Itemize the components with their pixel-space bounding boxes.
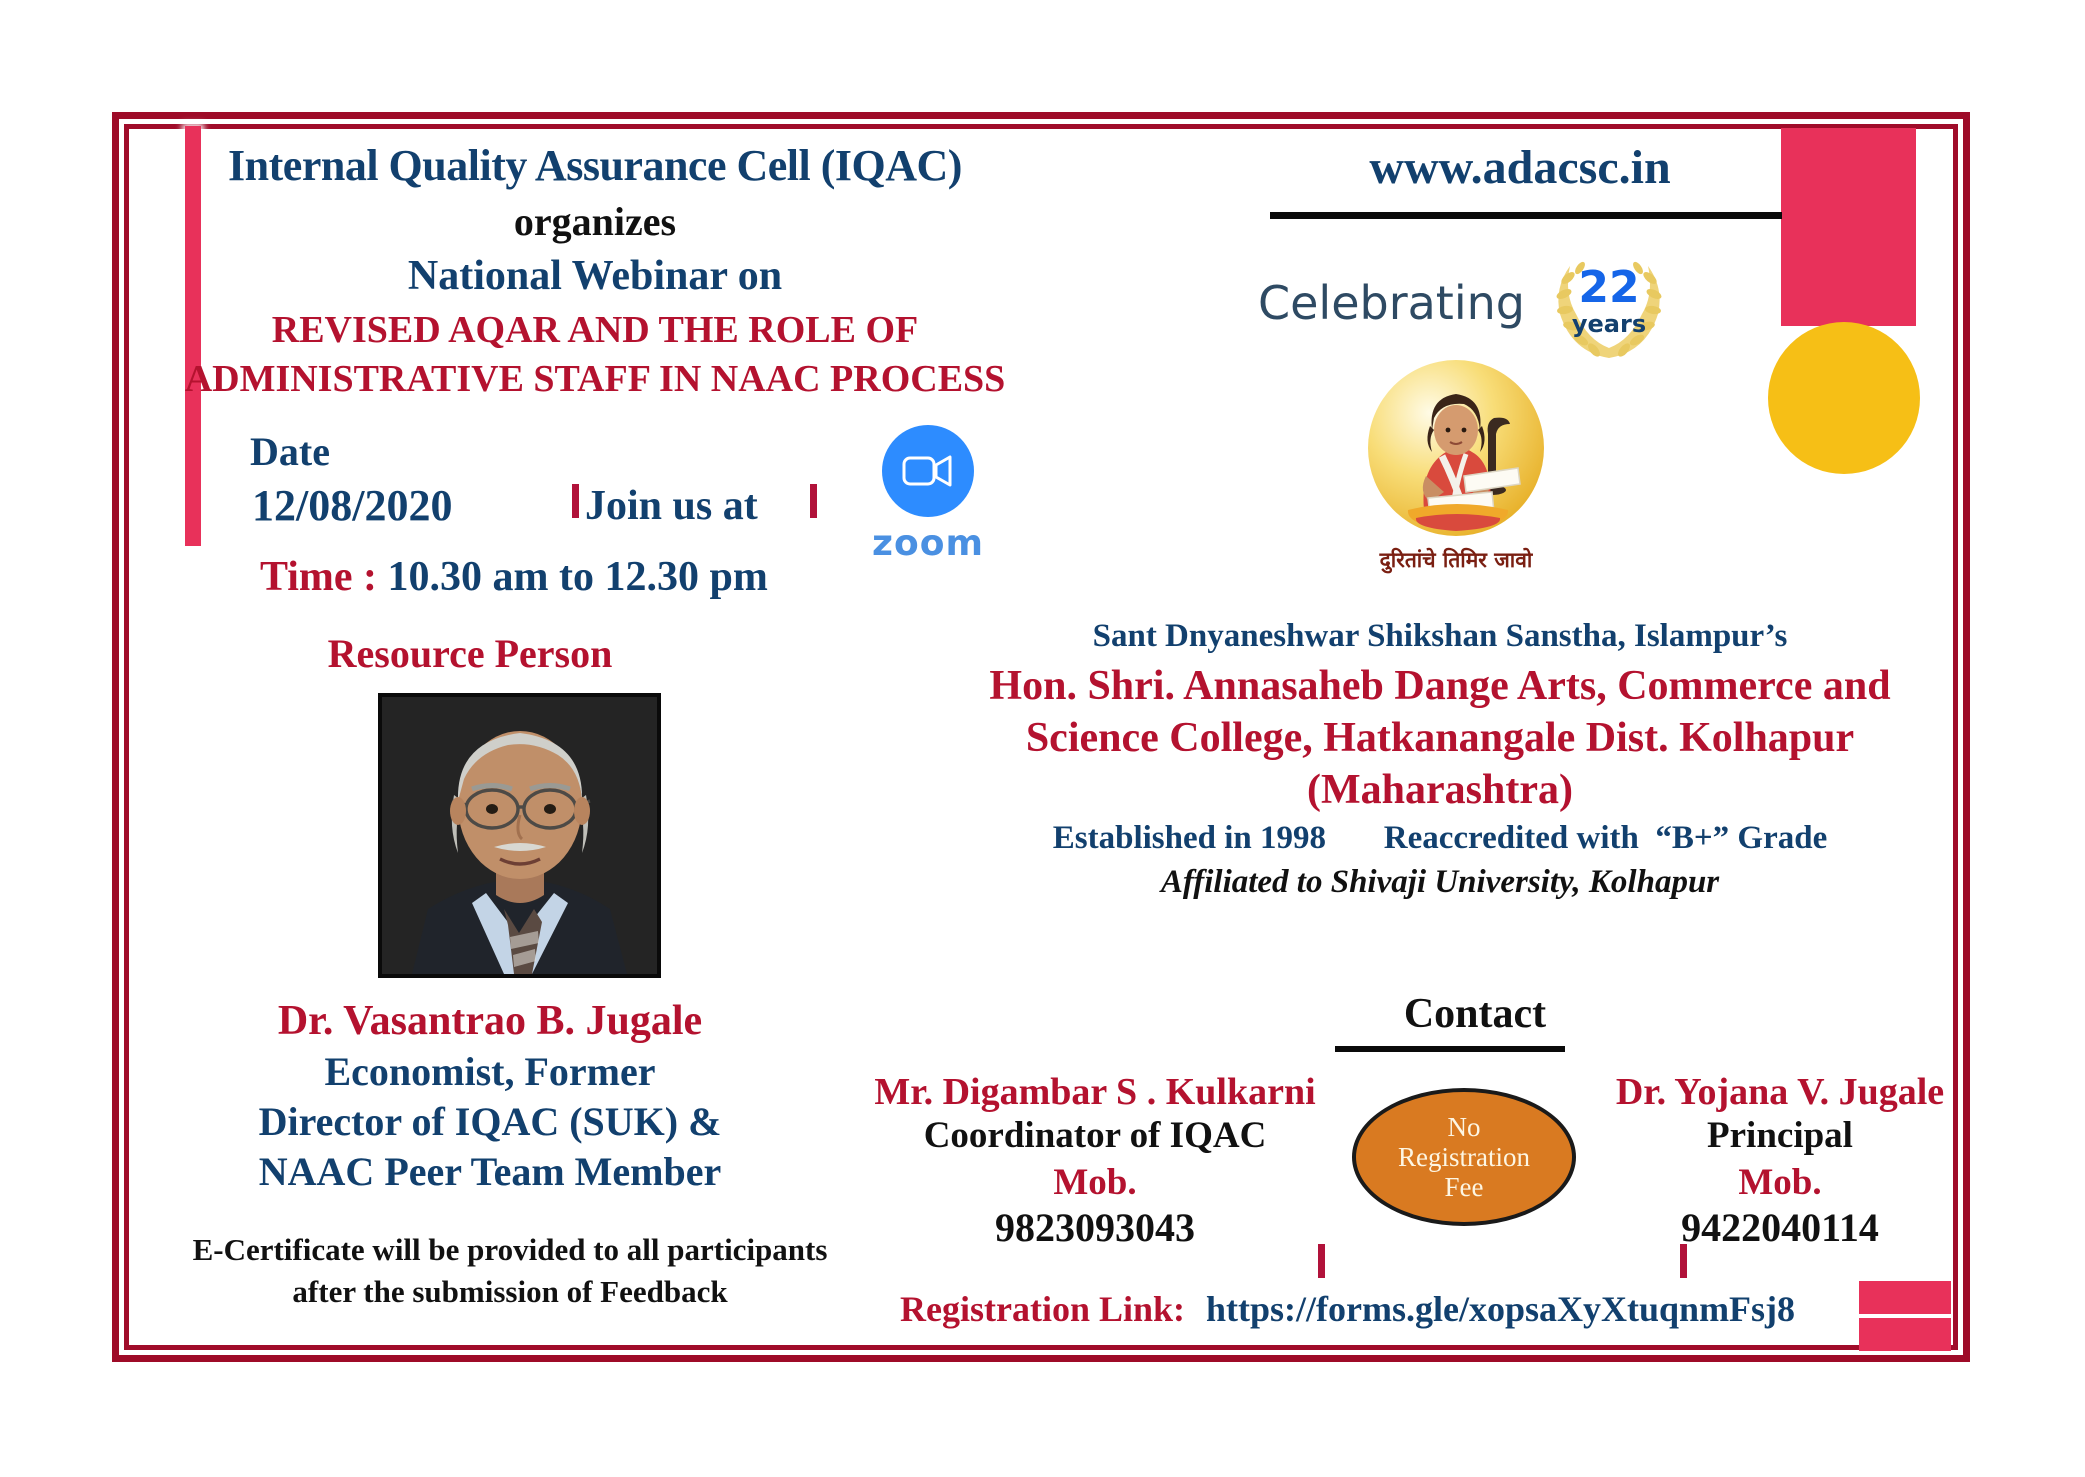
decor-tick-2	[810, 484, 817, 518]
affiliation: Affiliated to Shivaji University, Kolhap…	[960, 864, 1920, 901]
speaker-credential-line3: NAAC Peer Team Member	[180, 1148, 800, 1195]
contact-person-coordinator: Mr. Digambar S . Kulkarni Coordinator of…	[855, 1070, 1335, 1251]
top-right-pink-block	[1781, 128, 1916, 326]
organizer-title: Internal Quality Assurance Cell (IQAC)	[200, 140, 990, 191]
contact-mob-label: Mob.	[855, 1161, 1335, 1204]
speaker-credential-line2: Director of IQAC (SUK) &	[180, 1098, 800, 1145]
speaker-portrait	[378, 693, 661, 978]
contact-role: Coordinator of IQAC	[855, 1114, 1335, 1157]
registration-link-row: Registration Link: https://forms.gle/xop…	[900, 1288, 1795, 1330]
time-row: Time : 10.30 am to 12.30 pm	[260, 553, 768, 601]
contact-mob-label: Mob.	[1580, 1161, 1980, 1204]
event-type-label: National Webinar on	[200, 252, 990, 300]
speaker-name: Dr. Vasantrao B. Jugale	[190, 997, 790, 1045]
established-accreditation: Established in 1998 Reaccredited with “B…	[960, 820, 1920, 857]
webinar-poster: Internal Quality Assurance Cell (IQAC) o…	[0, 0, 2085, 1477]
fee-badge-text: No Registration Fee	[1398, 1112, 1530, 1203]
fee-line3: Fee	[1398, 1172, 1530, 1202]
contact-name: Dr. Yojana V. Jugale	[1580, 1070, 1980, 1114]
trust-name: Sant Dnyaneshwar Shikshan Sanstha, Islam…	[960, 618, 1920, 655]
contact-name: Mr. Digambar S . Kulkarni	[855, 1070, 1335, 1114]
registration-link-url[interactable]: https://forms.gle/xopsaXyXtuqnmFsj8	[1206, 1289, 1795, 1329]
emblem-motto: दुरितांचे तिमिर जावो	[1330, 546, 1582, 574]
college-name-line1: Hon. Shri. Annasaheb Dange Arts, Commerc…	[930, 662, 1950, 710]
bottom-right-pink-rect-upper	[1859, 1281, 1951, 1314]
webinar-topic-line2: ADMINISTRATIVE STAFF IN NAAC PROCESS	[180, 357, 1010, 401]
zoom-wordmark: zoom	[863, 523, 993, 564]
date-label: Date	[250, 428, 330, 475]
college-name-line2: Science College, Hatkanangale Dist. Kolh…	[930, 714, 1950, 762]
speaker-credential-line1: Economist, Former	[190, 1048, 790, 1095]
contact-person-principal: Dr. Yojana V. Jugale Principal Mob. 9422…	[1580, 1070, 1980, 1251]
celebrating-number: 22	[1546, 262, 1672, 313]
contact-underline	[1335, 1046, 1565, 1052]
sant-dnyaneshwar-emblem-icon	[1368, 360, 1544, 536]
celebrating-badge: Celebrating	[1258, 248, 1798, 366]
organizes-label: organizes	[200, 198, 990, 245]
contact-mob-number[interactable]: 9823093043	[855, 1204, 1335, 1251]
fee-line2: Registration	[1398, 1142, 1530, 1172]
registration-link-label: Registration Link:	[900, 1289, 1185, 1329]
decor-tick-1	[572, 484, 579, 518]
fee-line1: No	[1398, 1112, 1530, 1142]
contact-role: Principal	[1580, 1114, 1980, 1157]
zoom-platform-logo[interactable]: zoom	[863, 425, 993, 564]
website-url[interactable]: www.adacsc.in	[1240, 140, 1800, 195]
webinar-topic-line1: REVISED AQAR AND THE ROLE OF	[180, 308, 1010, 352]
bottom-right-pink-rect-lower	[1859, 1318, 1951, 1351]
contact-section-label: Contact	[1360, 990, 1590, 1038]
video-camera-icon	[882, 425, 974, 517]
contact-mob-number[interactable]: 9422040114	[1580, 1204, 1980, 1251]
resource-person-label: Resource Person	[230, 630, 710, 677]
certificate-note-line1: E-Certificate will be provided to all pa…	[140, 1232, 880, 1268]
certificate-note-line2: after the submission of Feedback	[140, 1274, 880, 1310]
celebrating-label: Celebrating	[1258, 276, 1525, 330]
no-registration-fee-badge: No Registration Fee	[1352, 1088, 1576, 1226]
celebrating-unit: years	[1546, 310, 1672, 338]
college-name-line3: (Maharashtra)	[930, 766, 1950, 814]
date-value: 12/08/2020	[252, 480, 452, 531]
time-value: 10.30 am to 12.30 pm	[388, 554, 768, 600]
join-us-label: Join us at	[585, 482, 758, 530]
website-underline	[1270, 212, 1782, 219]
time-label: Time :	[260, 554, 377, 600]
